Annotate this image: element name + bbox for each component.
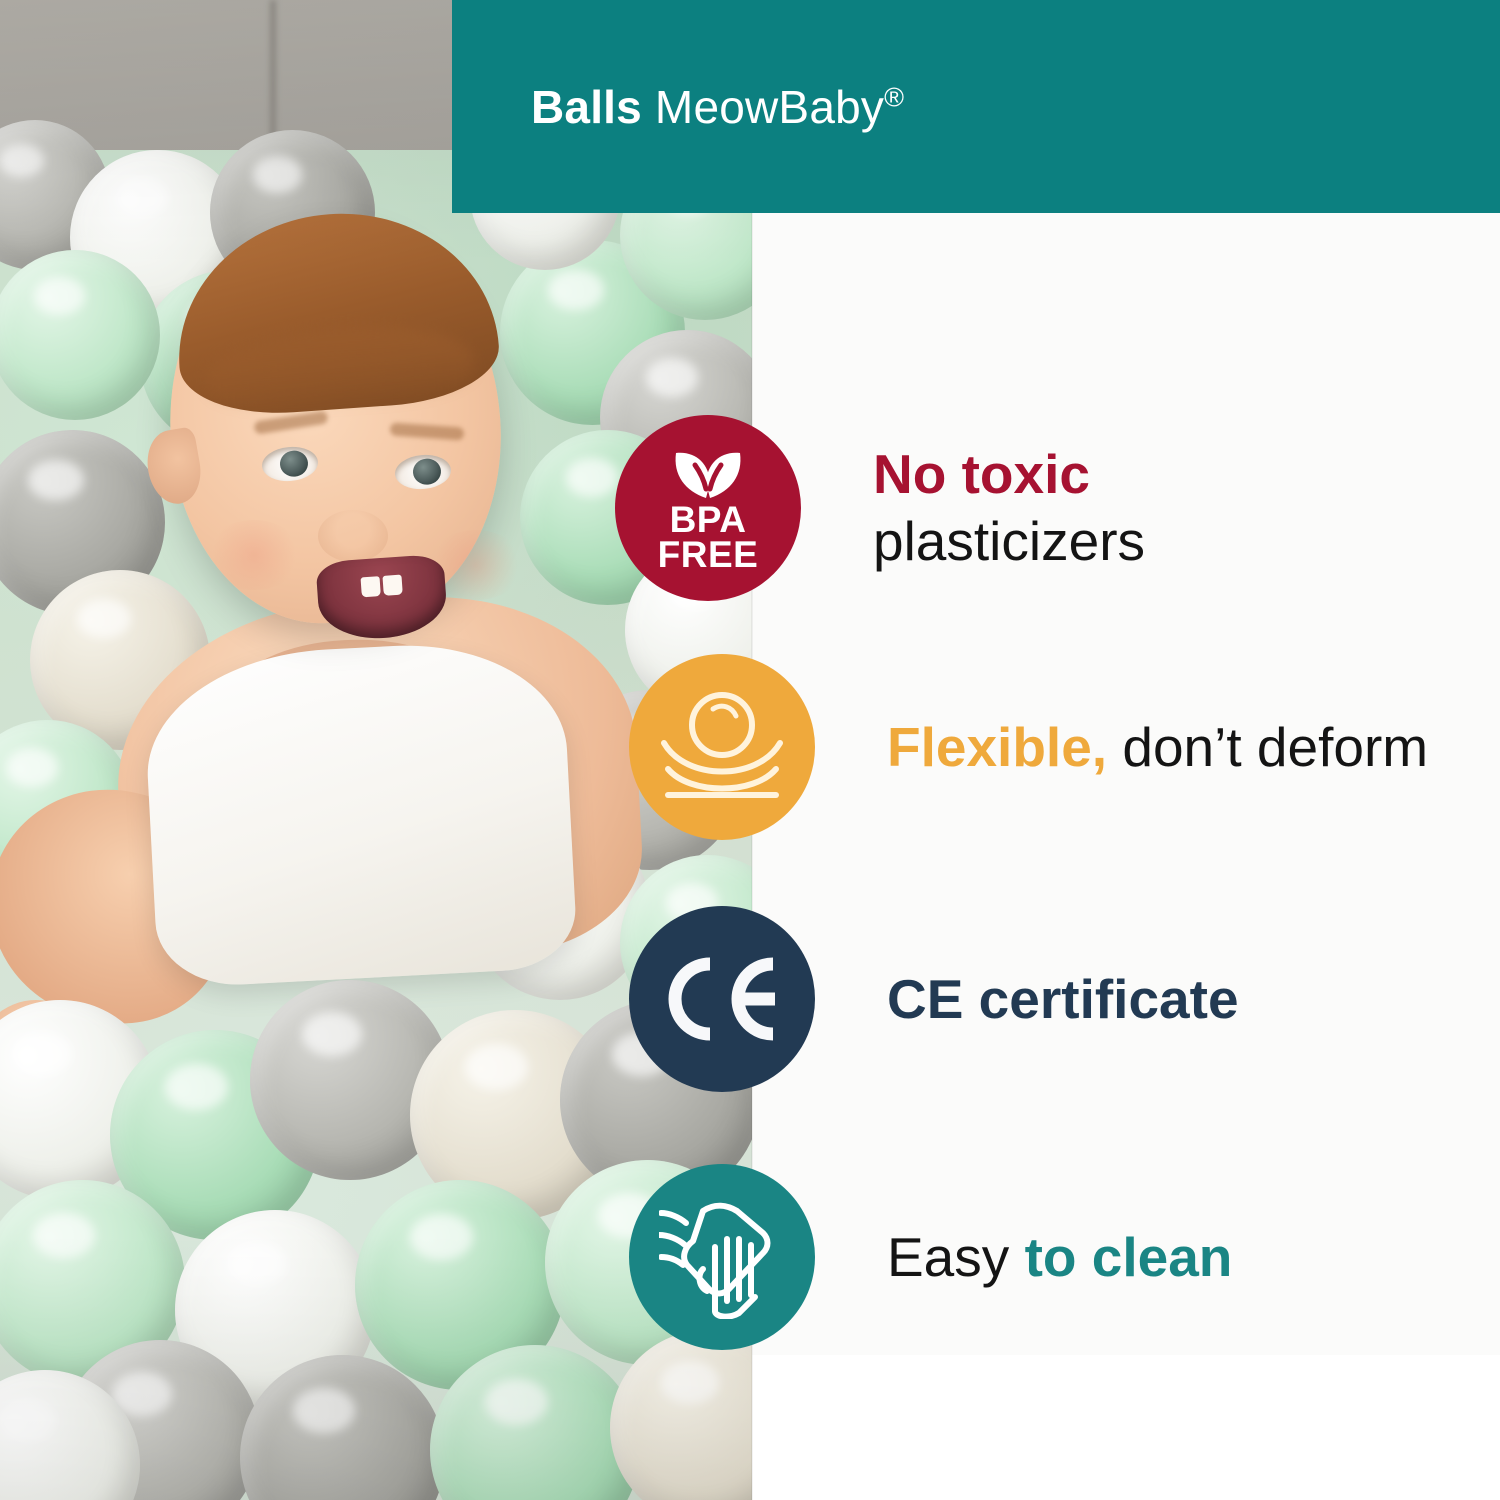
header-bar: Balls MeowBaby® — [452, 0, 1500, 213]
page-title: Balls MeowBaby® — [531, 80, 904, 134]
feature-highlight-flexible: Flexible, — [887, 716, 1107, 778]
title-brand-light: MeowBaby — [642, 81, 884, 133]
ball-on-waves-icon — [656, 685, 788, 809]
bpa-free-icon: BPA FREE — [615, 415, 801, 601]
feature-plain-plasticizers: plasticizers — [873, 510, 1145, 572]
baby-shirt — [142, 637, 579, 989]
baby-tooth — [361, 576, 381, 597]
baby-cheek — [206, 520, 302, 590]
bpa-label-line1: BPA — [670, 501, 747, 538]
baby-tooth — [382, 575, 402, 596]
feature-row-flexible: Flexible, don’t deform — [629, 654, 1428, 840]
bpa-free-icon-content: BPA FREE — [658, 443, 759, 573]
feature-text-ce-certificate: CE certificate — [887, 966, 1239, 1033]
feature-highlight-ce-certificate: CE certificate — [887, 968, 1239, 1030]
feature-text-easy-to-clean: Easy to clean — [887, 1224, 1232, 1291]
bpa-label-line2: FREE — [658, 536, 759, 573]
feature-text-flexible: Flexible, don’t deform — [887, 714, 1428, 781]
baby-nose — [318, 510, 388, 562]
feature-plain-easy: Easy — [887, 1226, 1025, 1288]
feature-plain-dont-deform: don’t deform — [1107, 716, 1428, 778]
feature-row-easy-to-clean: Easy to clean — [629, 1164, 1232, 1350]
ce-mark-icon — [663, 956, 781, 1042]
registered-trademark-symbol: ® — [884, 82, 904, 112]
feature-highlight-no-toxic: No toxic — [873, 443, 1090, 505]
feature-text-no-toxic: No toxic plasticizers — [873, 441, 1145, 574]
easy-to-clean-icon — [629, 1164, 815, 1350]
leaves-icon — [665, 443, 751, 501]
feature-highlight-to-clean: to clean — [1025, 1226, 1233, 1288]
hand-wiping-cloth-icon — [659, 1195, 785, 1319]
flexible-ball-icon — [629, 654, 815, 840]
ce-certificate-icon — [629, 906, 815, 1092]
feature-row-no-toxic: BPA FREE No toxic plasticizers — [615, 415, 1145, 601]
panel-bottom-fill — [752, 1355, 1500, 1500]
title-brand-strong: Balls — [531, 81, 642, 133]
feature-row-ce-certificate: CE certificate — [629, 906, 1239, 1092]
infographic-page: Balls MeowBaby® BPA FREE No toxic plasti… — [0, 0, 1500, 1500]
